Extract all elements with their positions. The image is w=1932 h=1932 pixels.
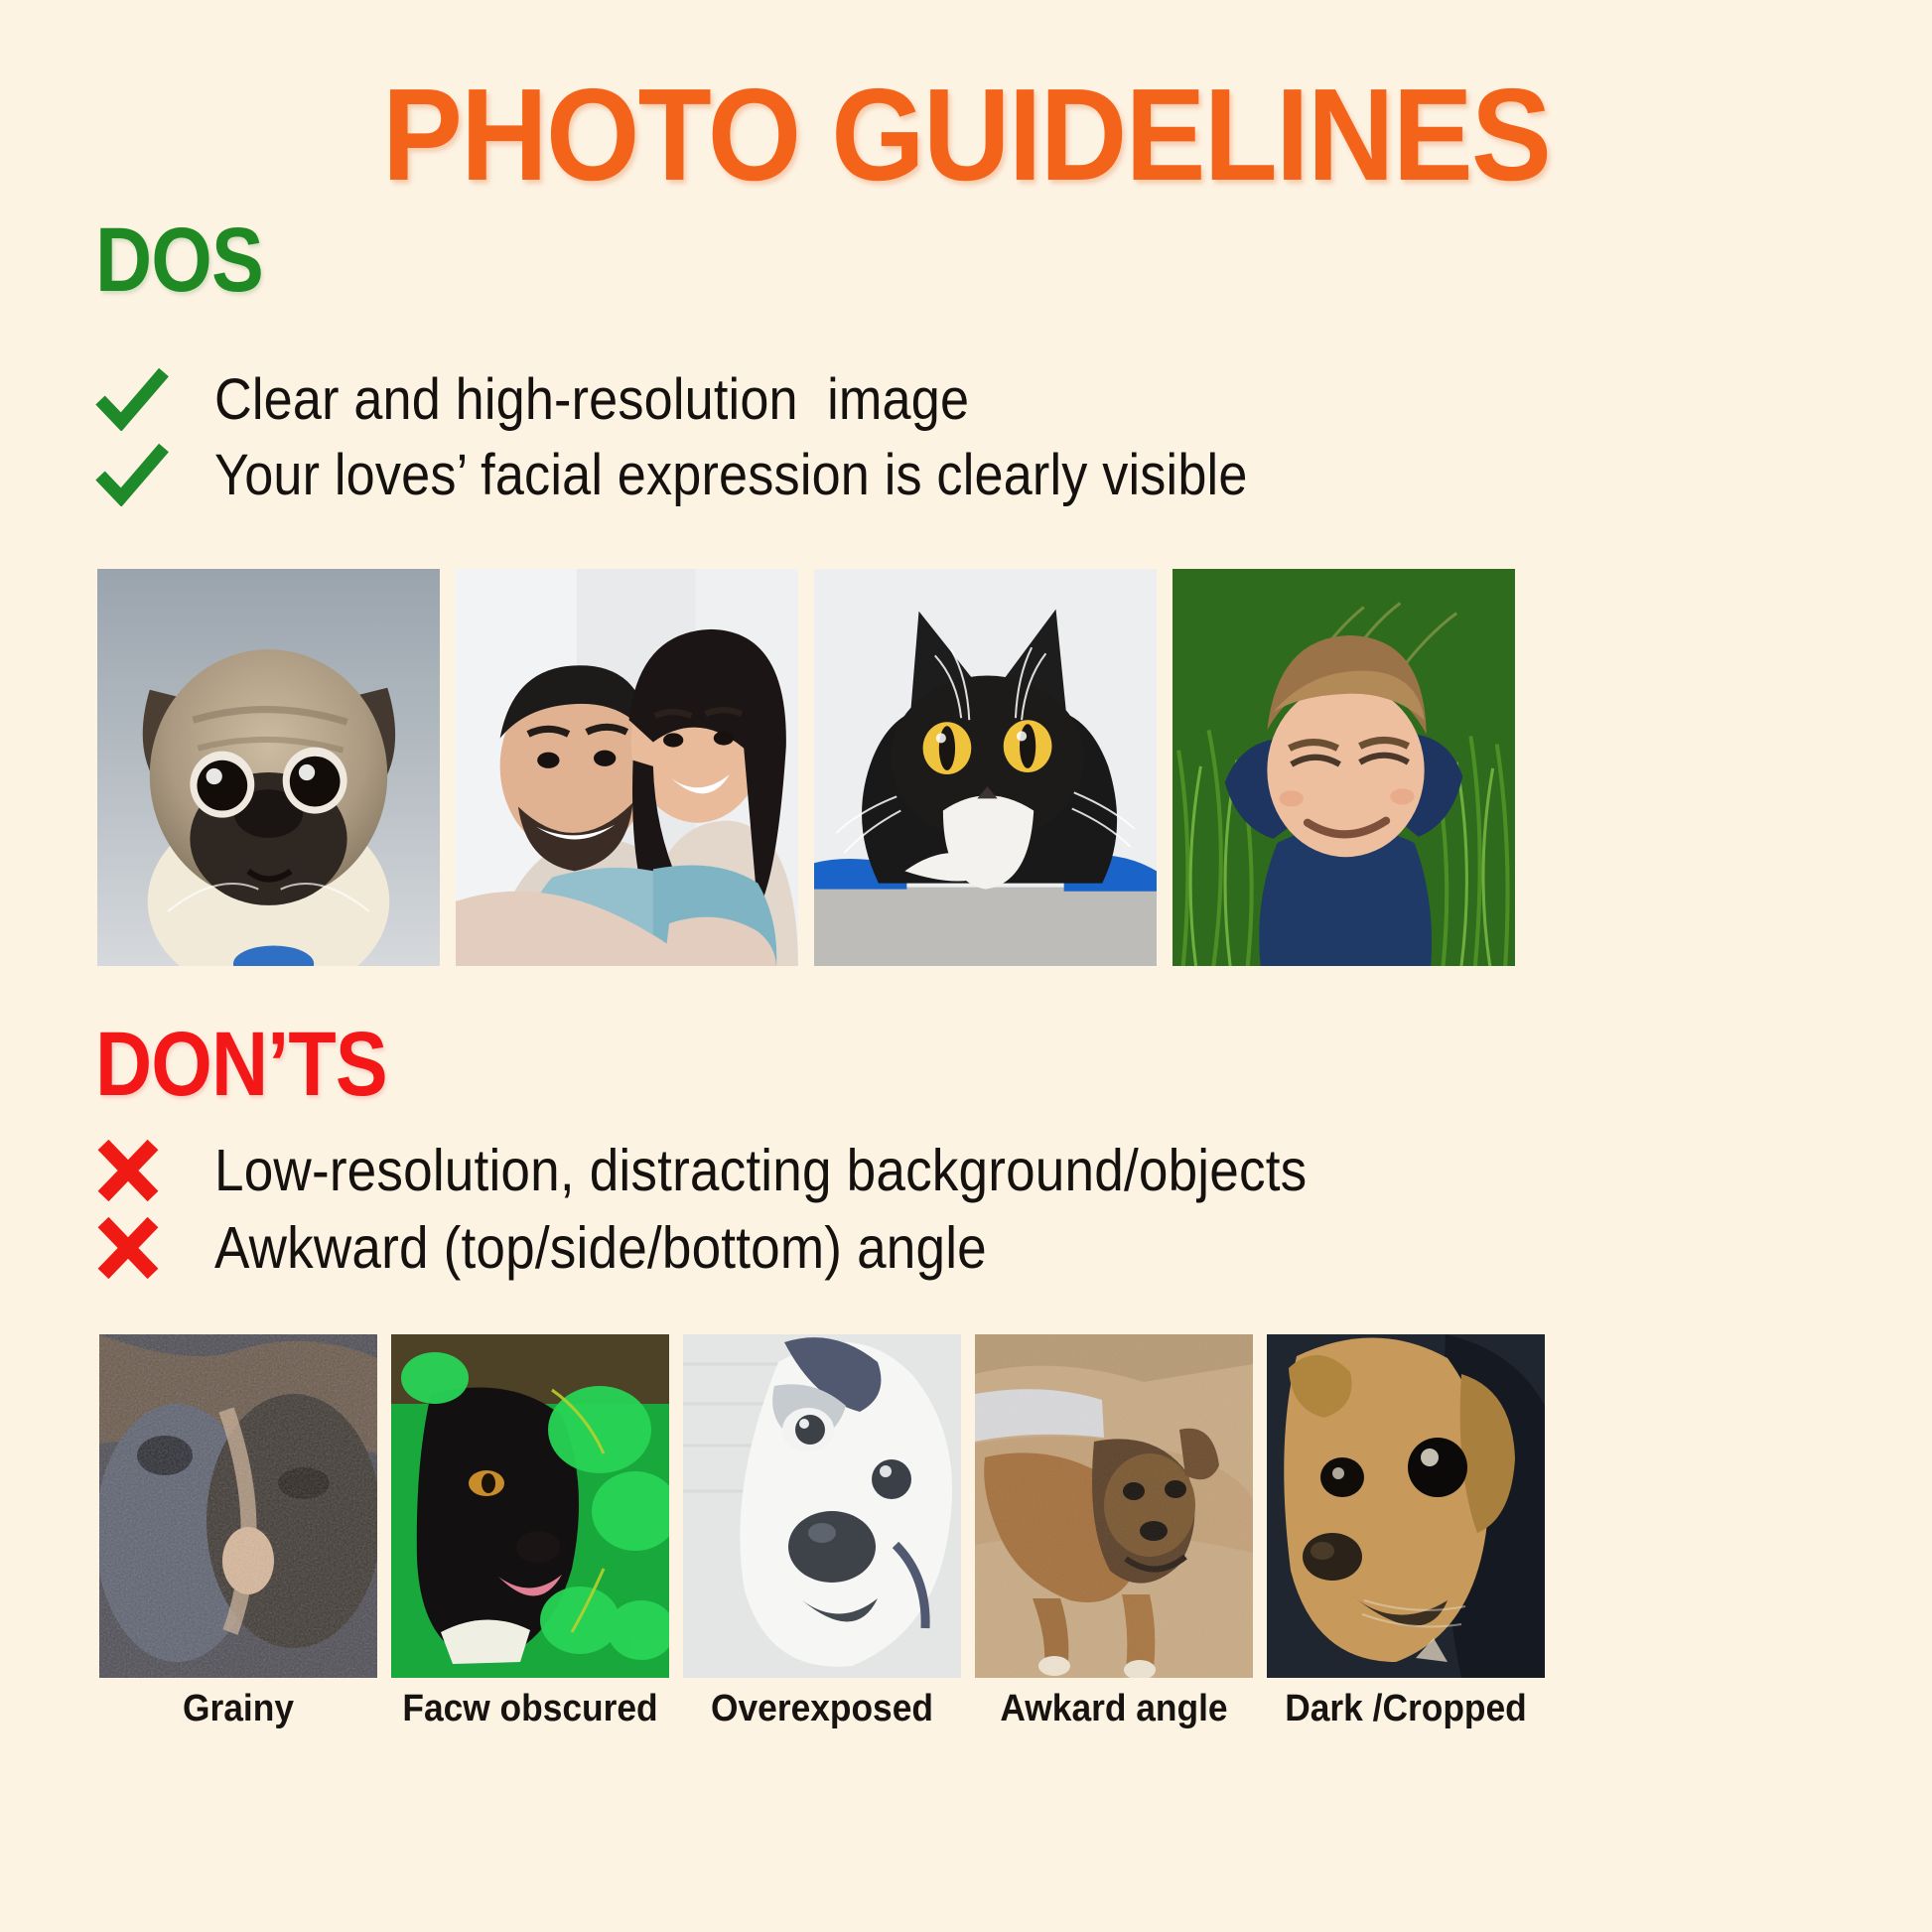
cross-icon [95,1140,214,1201]
donts-caption-row: Grainy Facw obscured Overexposed Awkard … [99,1688,1545,1730]
donts-photo-grainy [99,1334,377,1678]
dos-heading: DOS [95,208,263,313]
dos-photo-pug [97,569,440,966]
donts-item-label: Low-resolution, distracting background/o… [214,1137,1307,1204]
donts-caption: Awkard angle [985,1688,1243,1730]
donts-photo-awkward-angle [975,1334,1253,1678]
donts-list-item: Awkward (top/side/bottom) angle [95,1209,1429,1287]
check-icon [95,367,214,431]
donts-list-item: Low-resolution, distracting background/o… [95,1132,1429,1209]
dos-list-item: Your loves’ facial expression is clearly… [95,437,1362,512]
cross-icon [95,1217,214,1279]
check-icon [95,443,214,506]
donts-heading: DON’TS [95,1013,387,1117]
donts-photo-overexposed [683,1334,961,1678]
donts-photo-face-obscured [391,1334,669,1678]
dos-item-label: Clear and high-resolution image [214,366,969,433]
donts-item-label: Awkward (top/side/bottom) angle [214,1214,987,1282]
dos-photo-couple [456,569,798,966]
dos-list-item: Clear and high-resolution image [95,361,1362,437]
donts-photo-row [99,1334,1545,1678]
dos-item-label: Your loves’ facial expression is clearly… [214,442,1248,508]
donts-caption: Overexposed [693,1688,951,1730]
donts-caption: Facw obscured [401,1688,659,1730]
dos-list: Clear and high-resolution image Your lov… [95,361,1362,512]
dos-photo-cat [814,569,1157,966]
poster-root: PHOTO GUIDELINES DOS Clear and high-reso… [0,0,1932,1932]
dos-photo-boy [1173,569,1515,966]
donts-photo-dark-cropped [1267,1334,1545,1678]
dos-photo-row [97,569,1515,966]
donts-list: Low-resolution, distracting background/o… [95,1132,1429,1287]
page-title: PHOTO GUIDELINES [77,60,1855,209]
donts-caption: Grainy [109,1688,367,1730]
donts-caption: Dark /Cropped [1277,1688,1535,1730]
